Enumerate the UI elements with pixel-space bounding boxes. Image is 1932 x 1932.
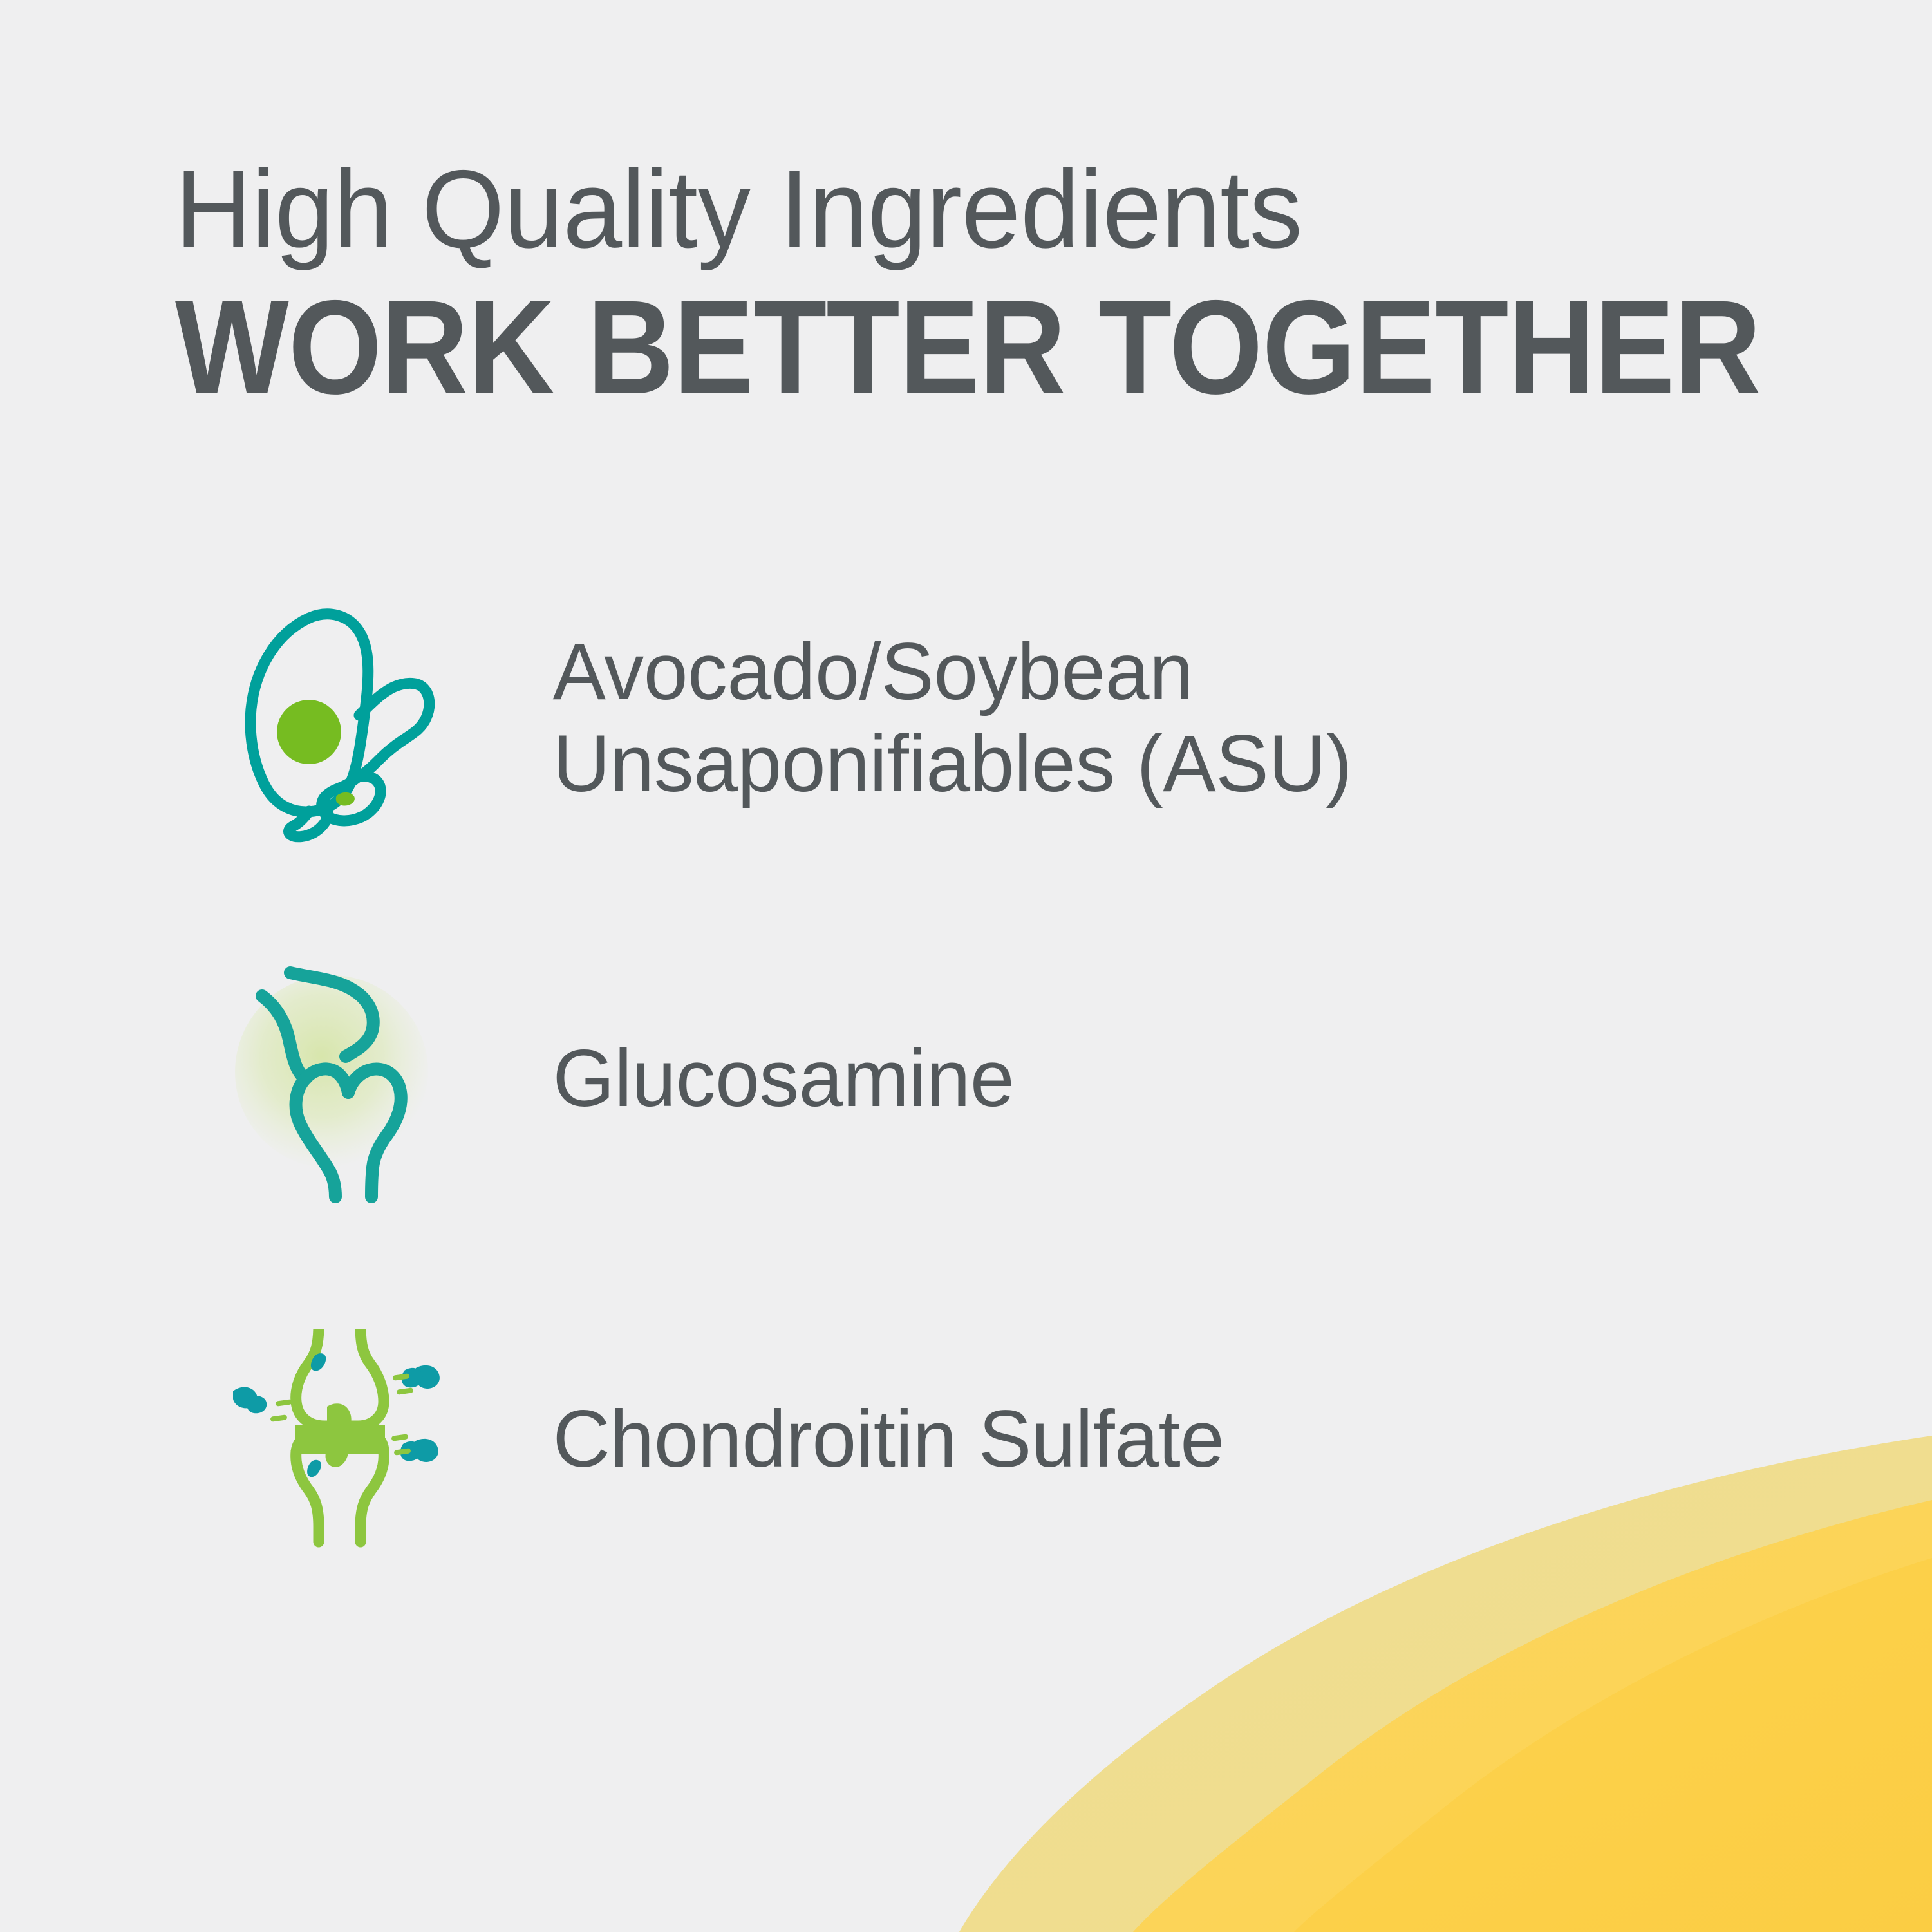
infographic-canvas: High Quality Ingredients WORK BETTER TOG… (0, 0, 1932, 1932)
ingredient-row: Avocado/Soybean Unsaponifiables (ASU) (219, 592, 1796, 843)
avocado-pit (277, 700, 341, 764)
heading-line-2: WORK BETTER TOGETHER (175, 281, 1712, 415)
cartilage-bump (326, 1403, 352, 1467)
wave-band-mid (1133, 1500, 1932, 1932)
ingredient-list: Avocado/Soybean Unsaponifiables (ASU) (219, 592, 1796, 1564)
ingredient-label: Glucosamine (457, 1033, 1014, 1125)
heading-line-1: High Quality Ingredients (175, 149, 1720, 269)
wave-band-deep (1294, 1558, 1932, 1932)
knee-joint-icon (219, 953, 457, 1204)
cartilage-fleck-bottom (307, 1460, 321, 1477)
molecule-cluster-left (233, 1387, 267, 1414)
molecule-dashes-left (270, 1399, 293, 1422)
ingredient-label: Avocado/Soybean Unsaponifiables (ASU) (457, 626, 1764, 810)
ingredient-row: Chondroitin Sulfate (219, 1313, 1796, 1564)
joint-cartilage-icon (219, 1313, 457, 1564)
avocado-soybean-icon (219, 592, 457, 843)
heading-block: High Quality Ingredients WORK BETTER TOG… (175, 149, 1785, 407)
ingredient-label: Chondroitin Sulfate (457, 1393, 1224, 1485)
soybean-seed (336, 792, 355, 806)
ingredient-row: Glucosamine (219, 953, 1796, 1204)
